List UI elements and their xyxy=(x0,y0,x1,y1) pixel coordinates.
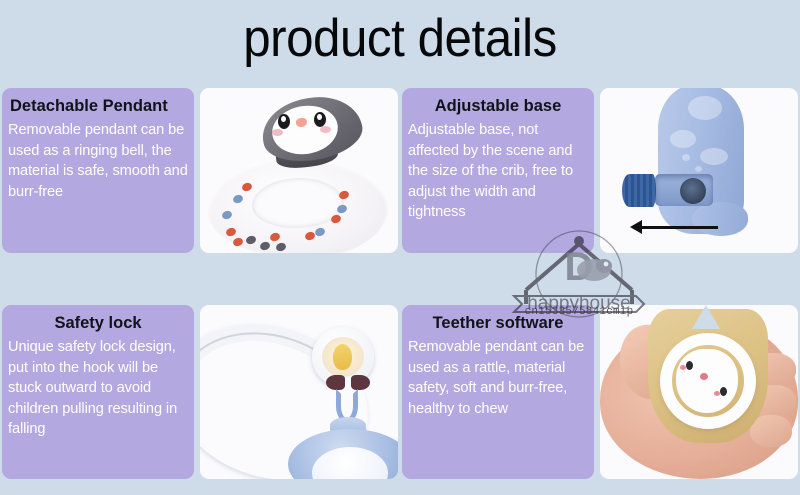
direction-arrow-icon xyxy=(630,220,642,234)
base-emboss-decoration xyxy=(670,130,696,148)
cat-blush-icon xyxy=(714,391,720,396)
feature-panel-adjustable-base: Adjustable base Adjustable base, not aff… xyxy=(402,88,594,253)
product-details-infographic: product details Detachable Pendant Remov… xyxy=(0,0,800,495)
cat-eye-icon xyxy=(720,387,727,396)
base-emboss-decoration xyxy=(682,154,690,161)
safety-lock-illustration xyxy=(200,305,398,479)
feature-heading-safety-lock: Safety lock xyxy=(8,313,188,333)
teether-ring-hole xyxy=(252,178,344,228)
penguin-cheek-icon xyxy=(320,126,331,133)
photo-adjustable-base xyxy=(600,88,798,253)
base-emboss-decoration xyxy=(688,96,722,120)
base-spiral-knob-icon xyxy=(680,178,706,204)
feature-panel-detachable-pendant: Detachable Pendant Removable pendant can… xyxy=(2,88,194,253)
feature-panel-safety-lock: Safety lock Unique safety lock design, p… xyxy=(2,305,194,479)
wooden-teether-illustration xyxy=(600,305,798,479)
penguin-rattle-illustration xyxy=(200,88,398,253)
feature-body-adjustable-base: Adjustable base, not affected by the sce… xyxy=(408,120,588,223)
photo-penguin-rattle xyxy=(200,88,398,253)
base-emboss-decoration xyxy=(700,148,728,165)
photo-teether-software xyxy=(600,305,798,479)
page-title: product details xyxy=(28,8,772,70)
base-screw-thread-icon xyxy=(622,174,656,207)
adjustable-base-illustration xyxy=(600,88,798,253)
cat-face-shape xyxy=(676,349,738,413)
feature-heading-adjustable-base: Adjustable base xyxy=(408,96,588,116)
feature-body-teether-software: Removable pendant can be used as a rattl… xyxy=(408,337,588,419)
base-emboss-decoration xyxy=(695,166,702,172)
bird-graphic-icon xyxy=(333,344,352,370)
direction-arrow-icon xyxy=(636,226,718,229)
cat-eye-icon xyxy=(686,361,693,370)
penguin-eye-icon xyxy=(278,114,290,129)
cat-ear-notch-icon xyxy=(692,305,720,329)
penguin-eye-icon xyxy=(314,112,326,127)
cat-nose-icon xyxy=(700,373,708,380)
feature-body-safety-lock: Unique safety lock design, put into the … xyxy=(8,337,188,440)
feature-panel-teether-software: Teether software Removable pendant can b… xyxy=(402,305,594,479)
cat-blush-icon xyxy=(680,365,686,370)
penguin-cheek-icon xyxy=(272,129,283,136)
base-foot-shape xyxy=(692,202,748,236)
feature-body-detachable-pendant: Removable pendant can be used as a ringi… xyxy=(8,120,188,202)
feature-heading-teether-software: Teether software xyxy=(408,313,588,333)
photo-safety-lock xyxy=(200,305,398,479)
feature-heading-detachable-pendant: Detachable Pendant xyxy=(8,96,188,116)
